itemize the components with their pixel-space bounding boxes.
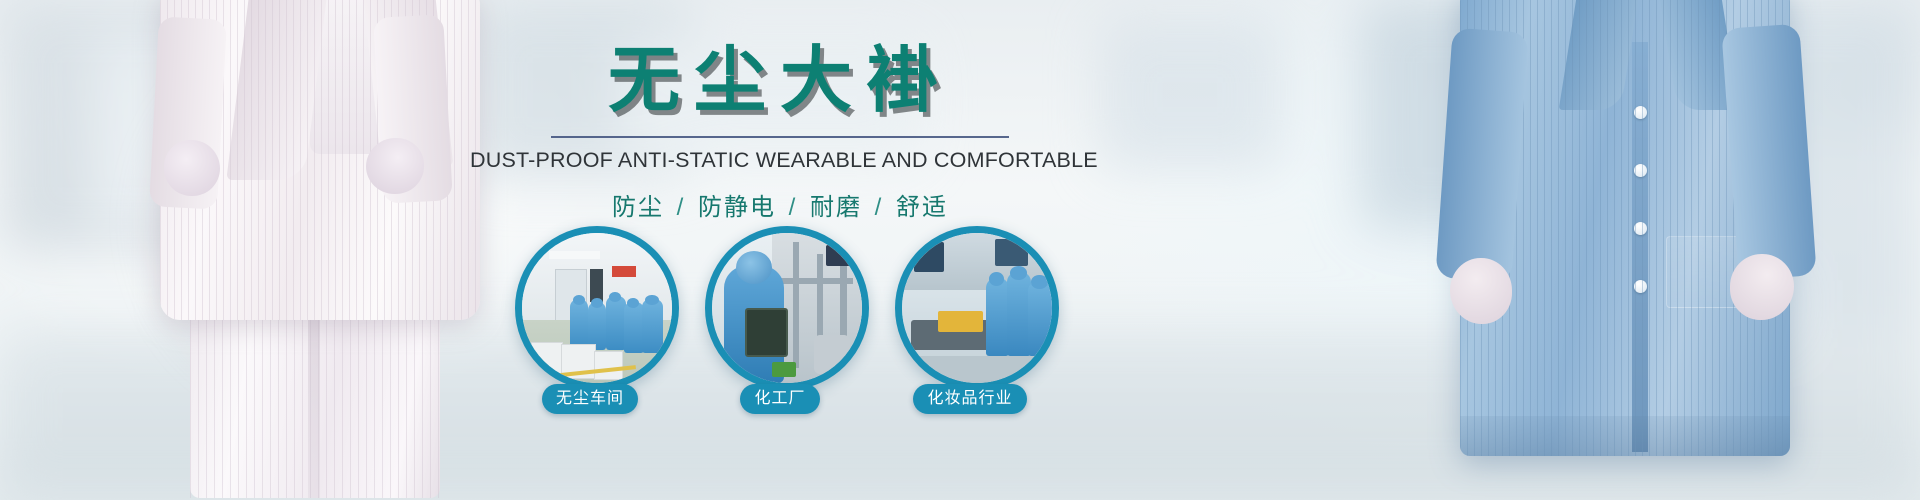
white-esd-coverall-model xyxy=(120,0,520,500)
feature-item-0: 防尘 xyxy=(612,194,664,221)
feature-separator-0: / xyxy=(673,194,690,221)
badge-chemical-plant-photo xyxy=(705,226,869,390)
feature-item-2: 耐磨 xyxy=(810,194,862,221)
badge-cosmetics-industry[interactable]: 化妆品行业 xyxy=(895,226,1045,414)
badge-chemical-plant-label: 化工厂 xyxy=(740,384,819,414)
feature-separator-2: / xyxy=(871,194,888,221)
application-badges: 无尘车间 xyxy=(470,226,1090,414)
banner-content: 无尘大褂 DUST-PROOF ANTI-STATIC WEARABLE AND… xyxy=(470,0,1090,500)
feature-item-3: 舒适 xyxy=(896,194,948,221)
white-glove-right xyxy=(366,138,424,194)
subtitle-english: DUST-PROOF ANTI-STATIC WEARABLE AND COMF… xyxy=(470,148,1090,173)
product-banner: 无尘大褂 DUST-PROOF ANTI-STATIC WEARABLE AND… xyxy=(0,0,1920,500)
badge-cleanroom-label: 无尘车间 xyxy=(542,384,638,414)
white-glove-left xyxy=(164,140,220,196)
badge-cosmetics-industry-label: 化妆品行业 xyxy=(913,384,1026,414)
title-divider xyxy=(551,136,1009,138)
blue-model-glove-left xyxy=(1450,258,1512,324)
feature-list: 防尘 / 防静电 / 耐磨 / 舒适 xyxy=(470,187,1090,222)
blue-lab-coat-model xyxy=(1430,0,1850,500)
feature-item-1: 防静电 xyxy=(698,194,776,221)
badge-cosmetics-industry-photo xyxy=(895,226,1059,390)
badge-cleanroom-photo xyxy=(515,226,679,390)
feature-separator-1: / xyxy=(785,194,802,221)
page-title: 无尘大褂 xyxy=(470,0,1090,120)
blue-model-glove-right xyxy=(1730,254,1794,320)
badge-chemical-plant[interactable]: 化工厂 xyxy=(705,226,855,414)
badge-cleanroom[interactable]: 无尘车间 xyxy=(515,226,665,414)
